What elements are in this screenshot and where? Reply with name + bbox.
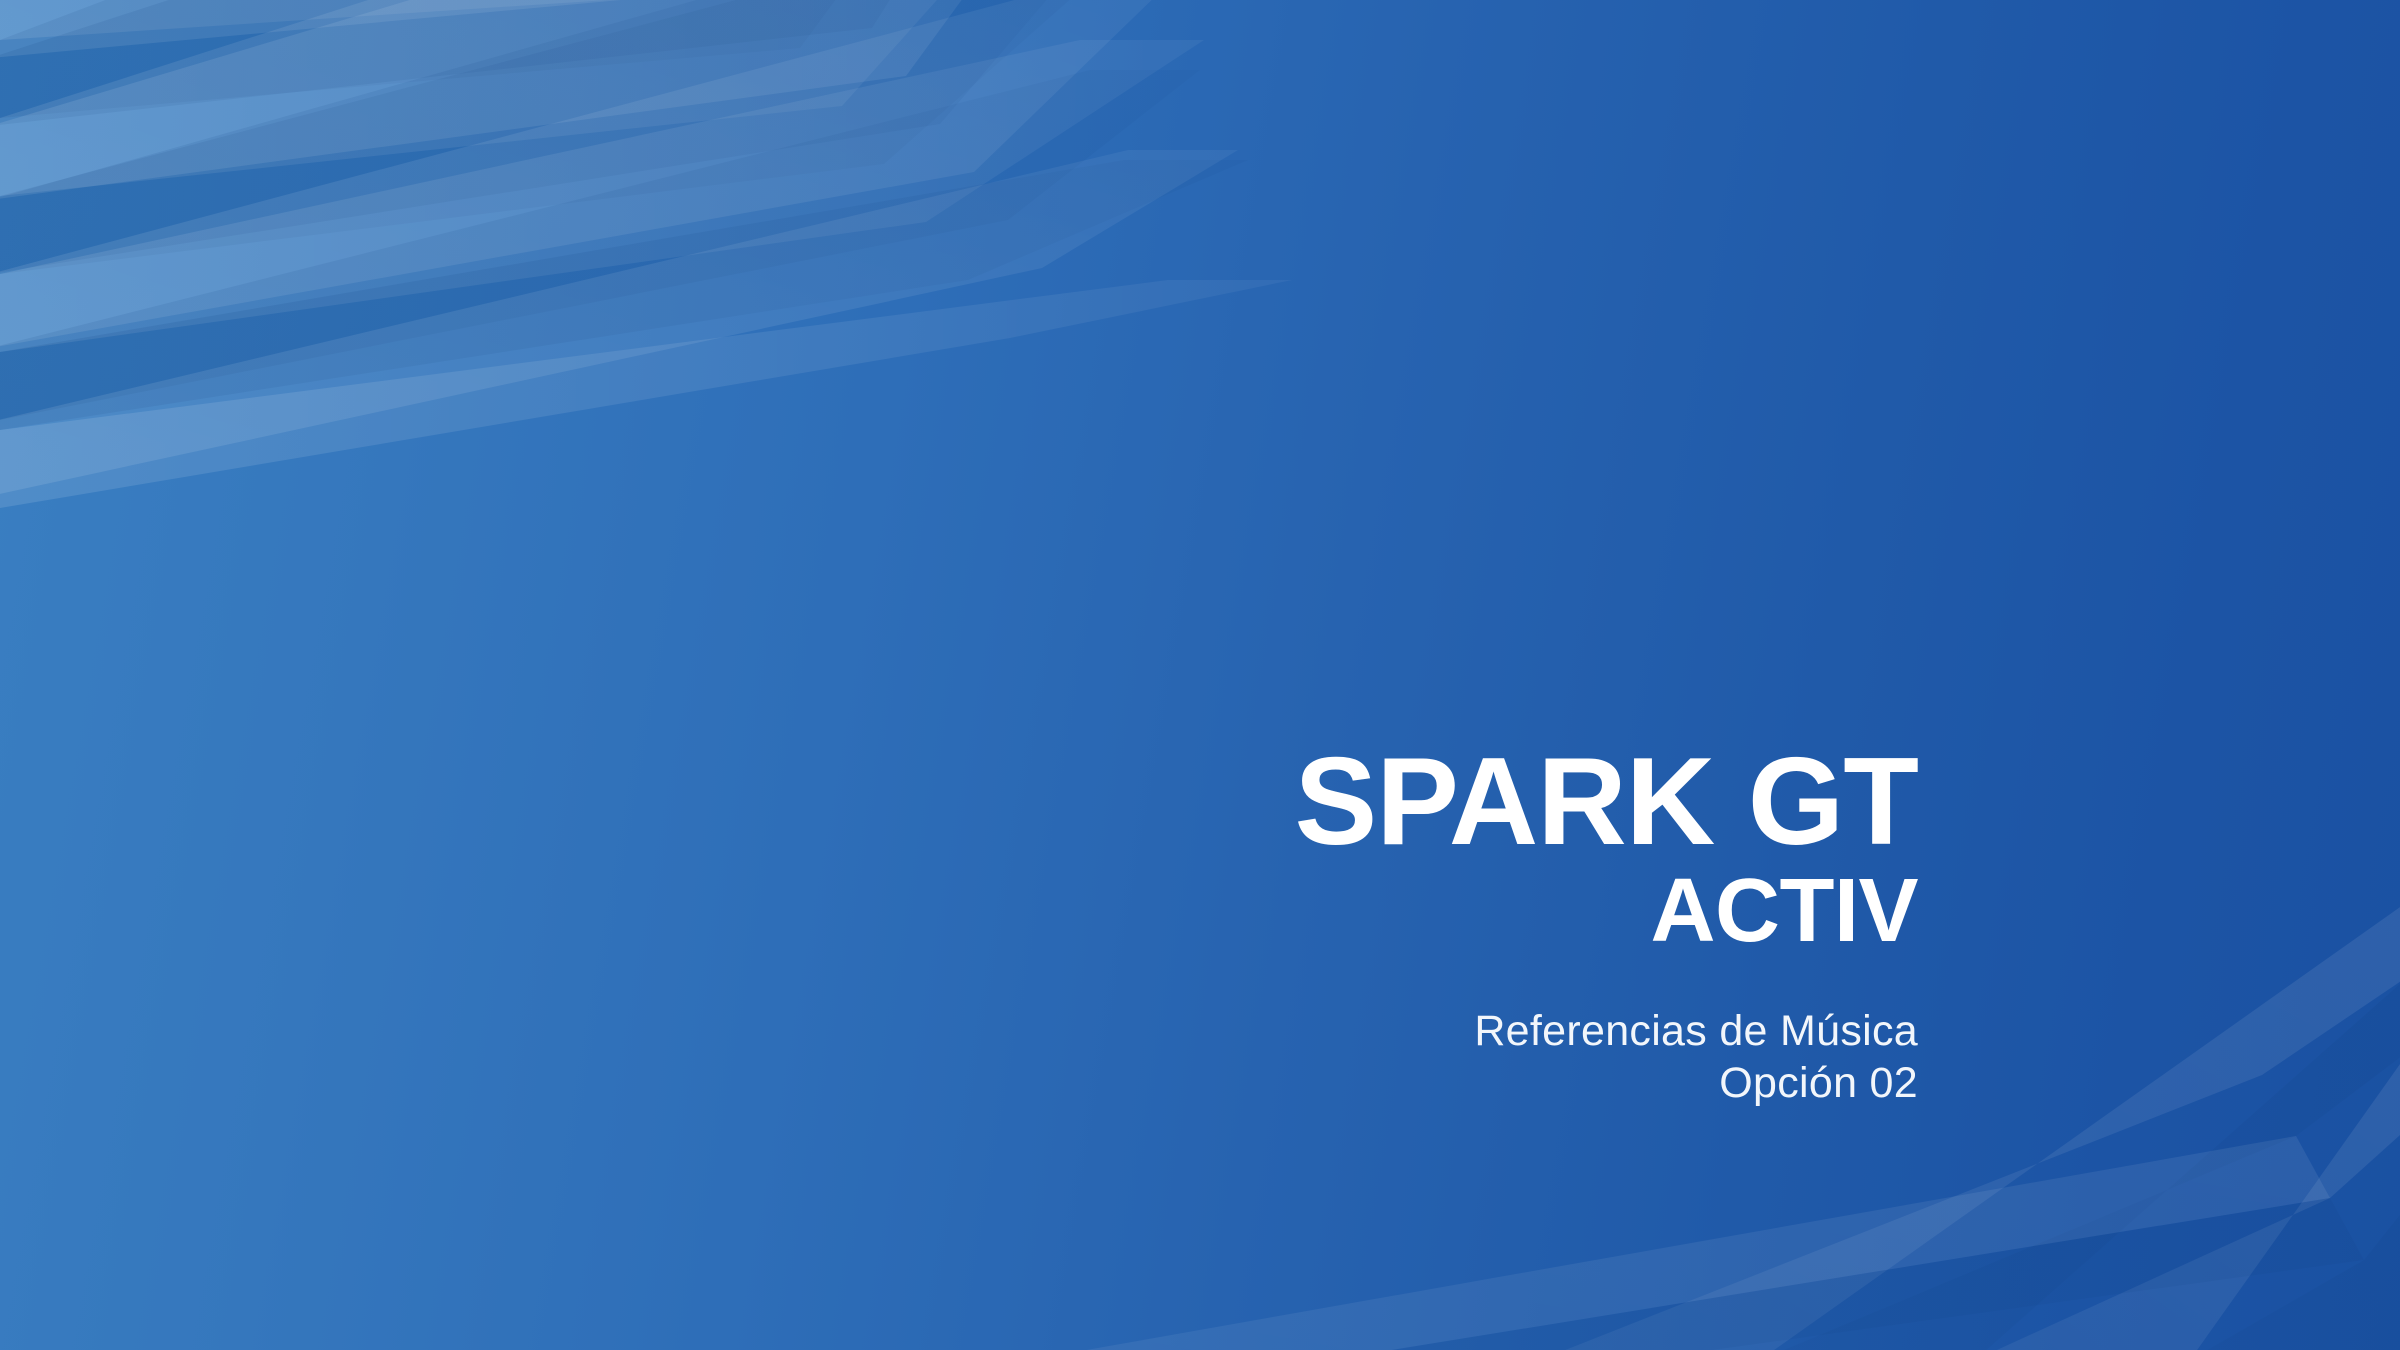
chevron-decoration-top-left-detail [0, 0, 2400, 1350]
chevron-decoration-top-left [0, 0, 2400, 1350]
caption-line-primary: Referencias de Música [818, 1005, 1918, 1057]
page-subtitle: ACTIV [818, 866, 1918, 956]
chevron-decoration-bottom-right [0, 0, 2400, 1350]
presentation-slide: SPARK GT ACTIV Referencias de Música Opc… [0, 0, 2400, 1350]
chevron-band-group [0, 0, 1292, 508]
bottom-diagonal-band [0, 0, 2400, 1350]
caption-line-secondary: Opción 02 [818, 1057, 1918, 1109]
page-title: SPARK GT [818, 740, 1918, 864]
title-block: SPARK GT ACTIV [818, 740, 1918, 956]
caption-block: Referencias de Música Opción 02 [818, 1005, 1918, 1110]
